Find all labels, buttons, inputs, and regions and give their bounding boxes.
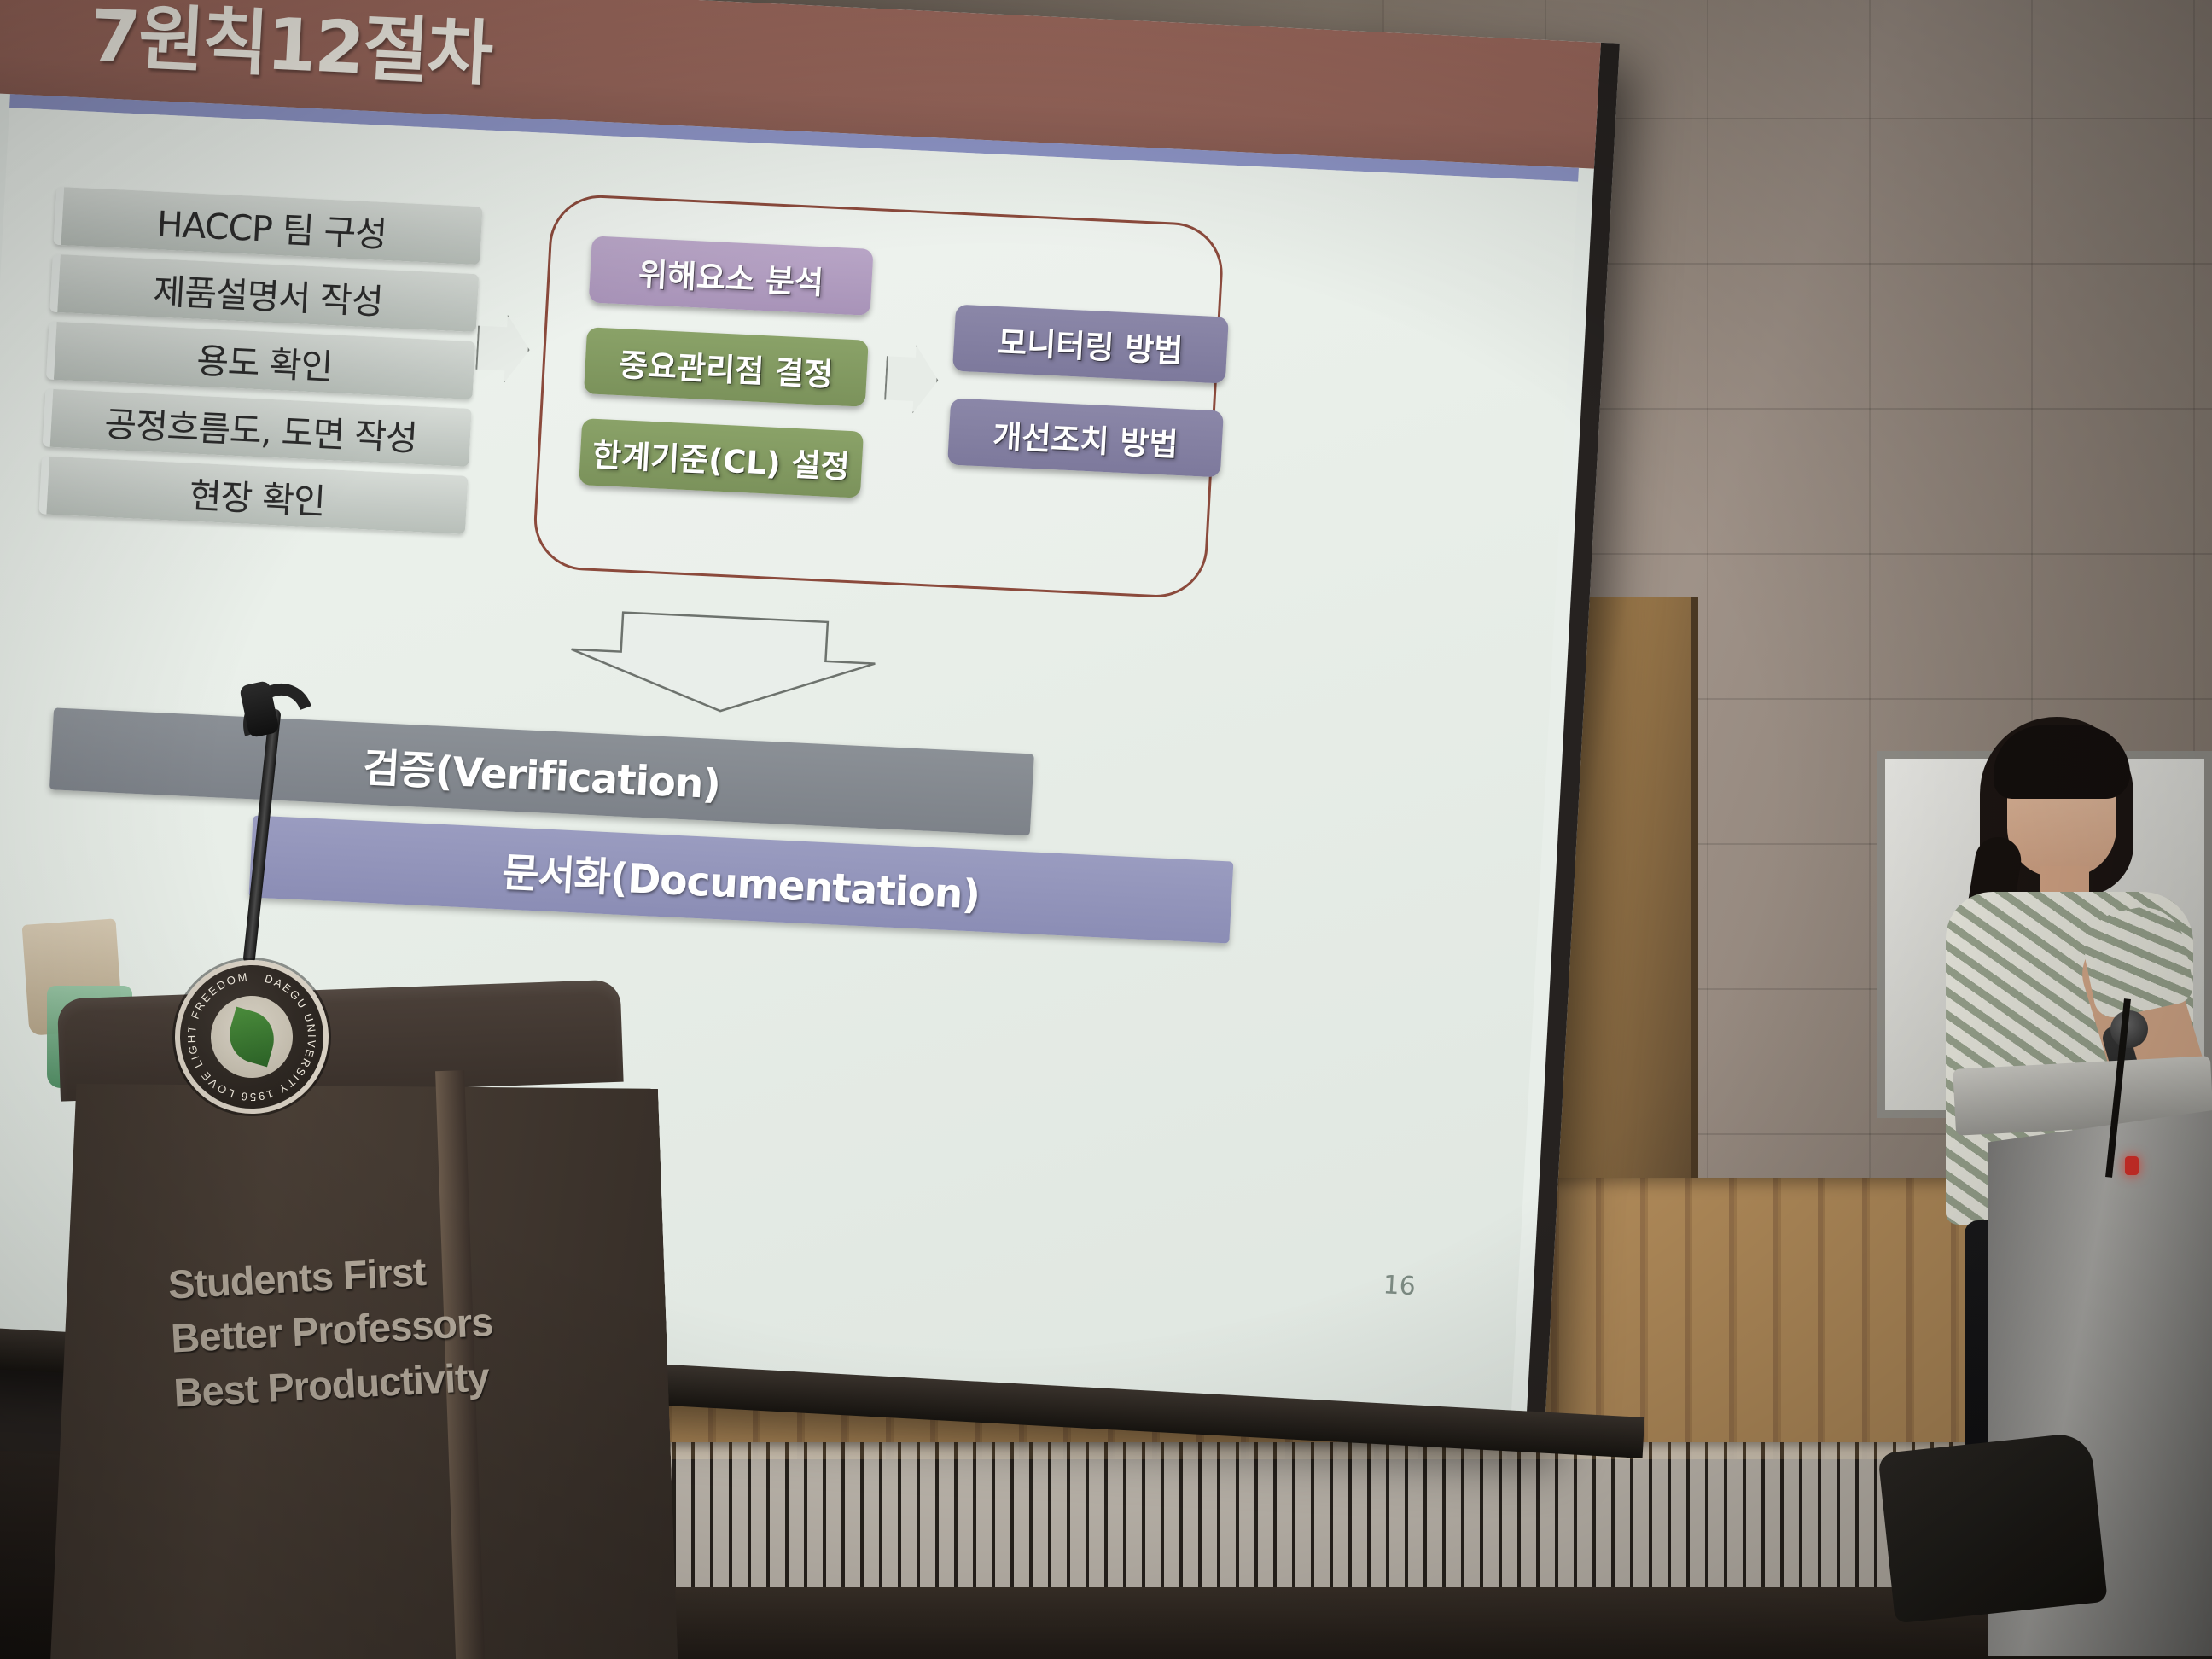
seal-leaf-emblem: [223, 1007, 281, 1068]
arrow-right-icon: [475, 313, 532, 384]
podium-top-surface: [57, 980, 624, 1102]
list-item: 제품설명서 작성: [49, 254, 479, 332]
list-item: HACCP 팀 구성: [53, 187, 482, 265]
ccp-box-monitoring: 모니터링 방법: [952, 305, 1229, 384]
list-item: 용도 확인: [46, 322, 475, 399]
presenter-hair-front: [1994, 725, 2130, 799]
hazard-box-cl: 한계기준(CL) 설정: [579, 418, 864, 498]
documentation-bar: 문서화(Documentation): [248, 815, 1233, 943]
equipment-bag: [1877, 1431, 2108, 1623]
ccp-box-corrective-action: 개선조치 방법: [947, 398, 1224, 477]
hazard-box-analysis: 위해요소 분석: [589, 236, 874, 315]
step-list: HACCP 팀 구성 제품설명서 작성 용도 확인 공정흐름도, 도면 작성 현…: [38, 187, 483, 544]
list-item: 공정흐름도, 도면 작성: [43, 388, 472, 466]
arrow-down-icon: [567, 608, 879, 721]
verification-bar: 검증(Verification): [49, 707, 1034, 835]
status-led-indicator: [2125, 1156, 2139, 1175]
microphone-head-icon: [2110, 1010, 2148, 1048]
hazard-box-ccp: 중요관리점 결정: [584, 327, 869, 406]
slide-page-number: 16: [1382, 1270, 1417, 1301]
lecture-hall-scene: 7원칙12절차 2013 액비HACCP 실무교육 HACCP 팀 구성 제품설…: [0, 0, 2212, 1659]
university-seal: DAEGU UNIVERSITY 1956 LOVE LIGHT FREEDOM: [172, 958, 331, 1116]
list-item: 현장 확인: [38, 456, 468, 533]
podium-motto: Students First Better Professors Best Pr…: [166, 1235, 618, 1420]
